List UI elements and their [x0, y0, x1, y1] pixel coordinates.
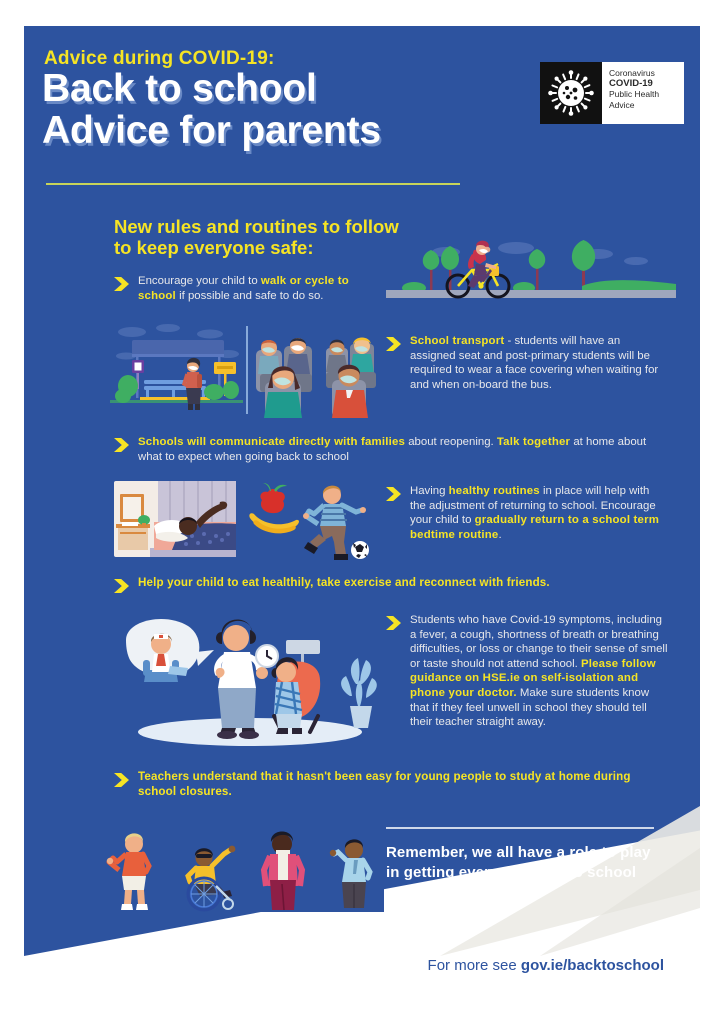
bullet-eat-healthily: Help your child to eat healthily, take e… [114, 576, 666, 593]
cyclist-illustration [386, 238, 676, 308]
bullet-school-transport: School transport - students will have an… [386, 334, 666, 392]
bullet-covid-symptoms: Students who have Covid-19 symptoms, inc… [386, 613, 668, 730]
chevron-bullet-icon [386, 337, 401, 351]
coronavirus-icon [540, 62, 602, 124]
footer-url[interactable]: gov.ie/backtoschool [521, 957, 664, 974]
bullet-routines-plain-3: . [498, 529, 501, 541]
bullet-eat-text: Help your child to eat healthily, take e… [138, 576, 550, 593]
bullet-communicate-bold-2: Talk together [497, 436, 570, 448]
bullet-communicate-text: Schools will communicate directly with f… [138, 435, 666, 464]
bus-stop-and-passengers-illustration [110, 322, 376, 418]
section-heading-line-1: New rules and routines to follow [114, 216, 399, 237]
chevron-bullet-icon [114, 579, 129, 593]
page-title: Back to school Advice for parents [42, 68, 381, 152]
bullet-transport-bold-1: School transport [410, 335, 504, 347]
chevron-bullet-icon [114, 438, 129, 452]
bullet-healthy-routines: Having healthy routines in place will he… [386, 484, 666, 542]
chevron-bullet-icon [114, 773, 129, 787]
footer: For more see gov.ie/backtoschool [0, 957, 700, 974]
title-underline [46, 183, 460, 185]
parent-phoning-doctor-illustration [110, 610, 382, 750]
diverse-children-row-illustration [104, 828, 384, 912]
chevron-bullet-icon [114, 277, 129, 291]
remember-text: Remember, we all have a role to play in … [386, 843, 666, 903]
bullet-symptoms-text: Students who have Covid-19 symptoms, inc… [410, 613, 668, 730]
chevron-bullet-icon [386, 487, 401, 501]
poster: Advice during COVID-19: Back to school A… [0, 0, 724, 1024]
bullet-routines-bold-1: healthy routines [449, 485, 540, 497]
section-heading-line-2: to keep everyone safe: [114, 237, 313, 258]
bullet-routines-text: Having healthy routines in place will he… [410, 484, 666, 542]
page-title-line-1: Back to school [42, 67, 317, 110]
bullet-walk-text: Encourage your child to walk or cycle to… [138, 274, 376, 303]
bedroom-waking-illustration [114, 481, 236, 557]
logo-line-4: Advice [609, 100, 679, 111]
bullet-teachers-understand: Teachers understand that it hasn't been … [114, 770, 666, 800]
footer-plain-text: For more see [428, 957, 521, 974]
logo-text-panel: Coronavirus COVID-19 Public Health Advic… [602, 62, 684, 124]
bullet-walk-or-cycle: Encourage your child to walk or cycle to… [114, 274, 376, 303]
bullet-communicate-plain-1: about reopening. [405, 436, 497, 448]
remember-divider [386, 827, 654, 829]
bullet-walk-plain-2: if possible and safe to do so. [176, 290, 324, 302]
routines-illustration [110, 478, 380, 568]
logo-line-1: Coronavirus [609, 68, 679, 79]
bullet-routines-plain-1: Having [410, 485, 449, 497]
logo-line-2: COVID-19 [609, 79, 679, 90]
chevron-bullet-icon [386, 616, 401, 630]
bullet-communicate-bold-1: Schools will communicate directly with f… [138, 436, 405, 448]
bullet-teachers-text: Teachers understand that it hasn't been … [138, 770, 666, 800]
bullet-schools-communicate: Schools will communicate directly with f… [114, 435, 666, 464]
bullet-walk-plain-1: Encourage your child to [138, 275, 261, 287]
section-heading: New rules and routines to follow to keep… [114, 216, 399, 258]
covid-public-health-logo: Coronavirus COVID-19 Public Health Advic… [540, 62, 684, 124]
bullet-transport-text: School transport - students will have an… [410, 334, 666, 392]
page-title-line-2: Advice for parents [42, 110, 381, 152]
logo-line-3: Public Health [609, 89, 679, 100]
